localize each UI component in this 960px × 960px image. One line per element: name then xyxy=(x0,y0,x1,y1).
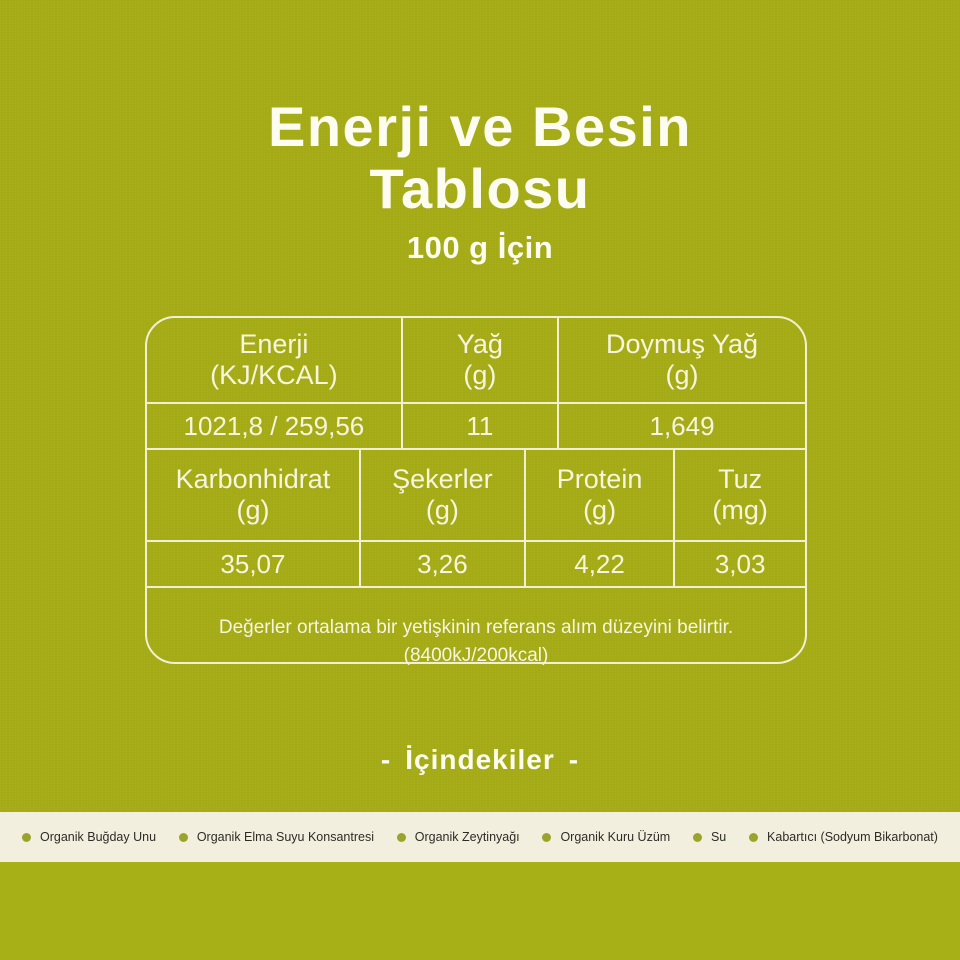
ingredient-label: Organik Elma Suyu Konsantresi xyxy=(197,830,374,844)
table-value-cell-carbohydrate: 35,07 xyxy=(147,541,360,587)
footnote-line-2: (8400kJ/200kcal) xyxy=(147,642,805,670)
table-header-cell-energy: Enerji (KJ/KCAL) xyxy=(147,318,402,403)
poster-header: Enerji ve Besin Tablosu 100 g İçin xyxy=(0,96,960,268)
table-header-cell-sugars: Şekerler (g) xyxy=(360,450,525,541)
table-value-row: 35,07 3,26 4,22 3,03 xyxy=(147,541,805,587)
table-header-cell-salt: Tuz (mg) xyxy=(674,450,805,541)
nutrition-table-card: Enerji (KJ/KCAL) Yağ (g) Doymuş Yağ (g) … xyxy=(145,316,807,664)
header-label-carbohydrate: Karbonhidrat xyxy=(147,464,359,495)
list-item: Organik Buğday Unu xyxy=(22,830,156,844)
ingredients-heading-label: İçindekiler xyxy=(405,744,555,775)
table-value-cell-sugars: 3,26 xyxy=(360,541,525,587)
list-item: Kabartıcı (Sodyum Bikarbonat) xyxy=(749,830,938,844)
page-title-line-1: Enerji ve Besin xyxy=(0,96,960,158)
list-item: Organik Zeytinyağı xyxy=(397,830,520,844)
table-value-cell-fat: 11 xyxy=(402,403,558,449)
header-unit-sugars: (g) xyxy=(361,495,524,526)
header-label-fat: Yağ xyxy=(403,329,557,360)
table-value-cell-saturated-fat: 1,649 xyxy=(558,403,805,449)
table-header-cell-protein: Protein (g) xyxy=(525,450,674,541)
ingredient-label: Kabartıcı (Sodyum Bikarbonat) xyxy=(767,830,938,844)
bullet-dot-icon xyxy=(397,833,406,842)
table-value-row: 1021,8 / 259,56 11 1,649 xyxy=(147,403,805,449)
table-header-cell-carbohydrate: Karbonhidrat (g) xyxy=(147,450,360,541)
header-label-saturated-fat: Doymuş Yağ xyxy=(559,329,805,360)
ingredient-label: Organik Kuru Üzüm xyxy=(560,830,670,844)
header-label-energy: Enerji xyxy=(147,329,401,360)
header-label-salt: Tuz xyxy=(675,464,805,495)
list-item: Organik Elma Suyu Konsantresi xyxy=(179,830,374,844)
ingredient-label: Organik Buğday Unu xyxy=(40,830,156,844)
table-header-cell-saturated-fat: Doymuş Yağ (g) xyxy=(558,318,805,403)
list-item: Organik Kuru Üzüm xyxy=(542,830,670,844)
table-header-row: Karbonhidrat (g) Şekerler (g) Protein (g… xyxy=(147,450,805,541)
bullet-dot-icon xyxy=(179,833,188,842)
footnote-line-1: Değerler ortalama bir yetişkinin referan… xyxy=(147,614,805,642)
header-unit-energy: (KJ/KCAL) xyxy=(147,360,401,391)
serving-size-subtitle: 100 g İçin xyxy=(0,228,960,268)
ingredients-heading: -İçindekiler- xyxy=(0,744,960,776)
header-label-sugars: Şekerler xyxy=(361,464,524,495)
ingredients-strip: Organik Buğday Unu Organik Elma Suyu Kon… xyxy=(0,812,960,862)
table-header-cell-fat: Yağ (g) xyxy=(402,318,558,403)
table-value-cell-salt: 3,03 xyxy=(674,541,805,587)
header-unit-protein: (g) xyxy=(526,495,673,526)
table-value-cell-energy: 1021,8 / 259,56 xyxy=(147,403,402,449)
header-unit-salt: (mg) xyxy=(675,495,805,526)
dash-right: - xyxy=(569,744,579,775)
header-unit-fat: (g) xyxy=(403,360,557,391)
bottom-green-panel xyxy=(0,862,960,960)
table-header-row: Enerji (KJ/KCAL) Yağ (g) Doymuş Yağ (g) xyxy=(147,318,805,403)
bullet-dot-icon xyxy=(22,833,31,842)
nutrition-table-section-2: Karbonhidrat (g) Şekerler (g) Protein (g… xyxy=(147,450,805,588)
bullet-dot-icon xyxy=(749,833,758,842)
header-unit-carbohydrate: (g) xyxy=(147,495,359,526)
nutrition-poster: Enerji ve Besin Tablosu 100 g İçin Enerj… xyxy=(0,0,960,960)
header-unit-saturated-fat: (g) xyxy=(559,360,805,391)
list-item: Su xyxy=(693,830,726,844)
ingredient-label: Organik Zeytinyağı xyxy=(415,830,520,844)
header-label-protein: Protein xyxy=(526,464,673,495)
nutrition-table-section-1: Enerji (KJ/KCAL) Yağ (g) Doymuş Yağ (g) … xyxy=(147,318,805,450)
bullet-dot-icon xyxy=(542,833,551,842)
ingredient-label: Su xyxy=(711,830,726,844)
page-title-line-2: Tablosu xyxy=(0,158,960,220)
table-footnote: Değerler ortalama bir yetişkinin referan… xyxy=(147,614,805,670)
dash-left: - xyxy=(381,744,391,775)
table-value-cell-protein: 4,22 xyxy=(525,541,674,587)
bullet-dot-icon xyxy=(693,833,702,842)
